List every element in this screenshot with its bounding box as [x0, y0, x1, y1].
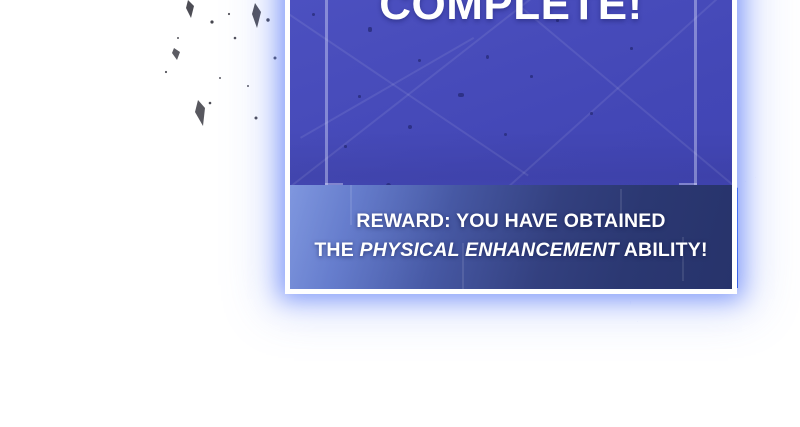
reward-line-2-prefix: THE	[314, 239, 359, 261]
reward-text: REWARD: YOU HAVE OBTAINED THE PHYSICAL E…	[290, 207, 732, 265]
page-title: QUEST COMPLETE!	[290, 0, 732, 31]
reward-ability-name: PHYSICAL ENHANCEMENT	[360, 239, 619, 261]
reward-line-1: REWARD: YOU HAVE OBTAINED	[290, 207, 732, 236]
scene-root: QUEST COMPLETE! REWARD: YOU HAVE OBTAINE…	[0, 0, 800, 427]
reward-line-2: THE PHYSICAL ENHANCEMENT ABILITY!	[290, 236, 732, 265]
reward-line-2-suffix: ABILITY!	[619, 239, 708, 261]
quest-complete-panel: QUEST COMPLETE! REWARD: YOU HAVE OBTAINE…	[285, 0, 737, 294]
reward-band: REWARD: YOU HAVE OBTAINED THE PHYSICAL E…	[290, 185, 732, 289]
panel-inner-surface: QUEST COMPLETE! REWARD: YOU HAVE OBTAINE…	[290, 0, 732, 289]
